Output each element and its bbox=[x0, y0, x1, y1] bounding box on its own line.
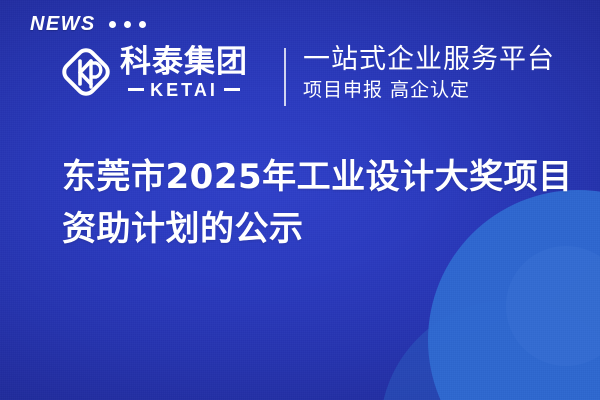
decorative-circle-icon bbox=[380, 300, 600, 400]
company-logo-lockup: 科泰集团 KETAI bbox=[60, 44, 248, 100]
ketai-diamond-kp-logo-icon bbox=[60, 44, 112, 100]
dot-icon bbox=[139, 21, 146, 28]
logo-company-name-en-row: KETAI bbox=[120, 81, 248, 99]
news-kicker-label: NEWS bbox=[30, 14, 96, 34]
dot-icon bbox=[124, 21, 131, 28]
slogan-block: 一站式企业服务平台 项目申报 高企认定 bbox=[303, 44, 555, 103]
vertical-divider-icon bbox=[284, 48, 286, 106]
logo-company-name-cn: 科泰集团 bbox=[120, 46, 248, 79]
news-banner: NEWS 科泰集团 KETAI bbox=[0, 0, 600, 400]
logo-wordmark: 科泰集团 KETAI bbox=[120, 46, 248, 99]
news-kicker: NEWS bbox=[30, 14, 146, 34]
page-title: 东莞市2025年工业设计大奖项目资助计划的公示 bbox=[62, 152, 578, 255]
dot-icon bbox=[109, 21, 116, 28]
logo-company-name-en: KETAI bbox=[150, 81, 218, 99]
news-kicker-dots-icon bbox=[109, 21, 146, 28]
slogan-main-text: 一站式企业服务平台 bbox=[303, 44, 555, 75]
slogan-sub-text: 项目申报 高企认定 bbox=[303, 79, 555, 103]
logo-rule-right-icon bbox=[224, 88, 240, 91]
logo-rule-left-icon bbox=[128, 88, 144, 91]
decorative-circle-icon bbox=[506, 246, 600, 366]
